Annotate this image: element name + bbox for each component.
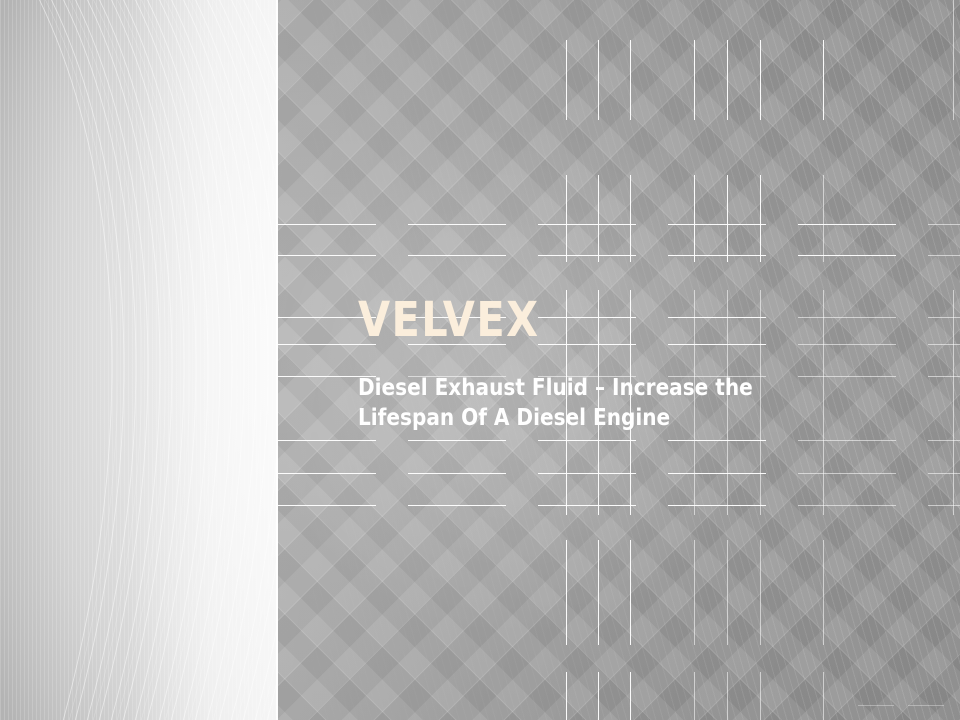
grid-vline xyxy=(694,40,695,120)
grid-hline xyxy=(408,255,506,256)
grid-vline xyxy=(694,672,695,720)
grid-hline xyxy=(278,255,376,256)
left-panel-streaks xyxy=(0,0,278,720)
grid-hline xyxy=(538,473,636,474)
grid-hline xyxy=(928,505,960,506)
grid-vline xyxy=(598,40,599,120)
grid-hline xyxy=(278,440,376,441)
grid-vline xyxy=(630,40,631,120)
grid-hline xyxy=(928,317,960,318)
grid-vline xyxy=(566,175,567,262)
grid-hline xyxy=(668,473,766,474)
grid-hline xyxy=(928,224,960,225)
grid-hline xyxy=(538,255,636,256)
grid-hline xyxy=(278,505,376,506)
grid-hline xyxy=(408,224,506,225)
grid-hline xyxy=(908,705,944,706)
page-title: VELVEX xyxy=(358,296,857,345)
title-slide: VELVEX Diesel Exhaust Fluid – Increase t… xyxy=(0,0,960,720)
grid-hline xyxy=(668,224,766,225)
grid-hline xyxy=(278,224,376,225)
grid-hline xyxy=(668,505,766,506)
grid-hline xyxy=(928,376,960,377)
left-panel-edge xyxy=(276,0,278,720)
subtitle-placeholder: Diesel Exhaust Fluid – Increase the Life… xyxy=(358,373,858,434)
grid-vline xyxy=(598,175,599,262)
grid-hline xyxy=(798,224,896,225)
grid-hline xyxy=(408,505,506,506)
grid-vline xyxy=(566,672,567,720)
grid-hline xyxy=(798,440,896,441)
grid-vline xyxy=(566,540,567,645)
grid-vline xyxy=(823,540,824,645)
grid-vline xyxy=(598,672,599,720)
title-placeholder: VELVEX xyxy=(358,296,878,345)
grid-vline xyxy=(760,540,761,645)
grid-hline xyxy=(408,440,506,441)
grid-vline xyxy=(823,175,824,262)
grid-vline xyxy=(727,672,728,720)
grid-hline xyxy=(798,473,896,474)
grid-hline xyxy=(668,440,766,441)
subtitle-line-2: Lifespan Of A Diesel Engine xyxy=(358,405,670,431)
grid-vline xyxy=(630,175,631,262)
grid-vline xyxy=(727,540,728,645)
grid-hline xyxy=(928,473,960,474)
grid-hline xyxy=(858,705,894,706)
grid-vline xyxy=(630,672,631,720)
grid-hline xyxy=(408,473,506,474)
slide-subtitle: Diesel Exhaust Fluid – Increase the Life… xyxy=(358,373,843,434)
grid-vline xyxy=(760,40,761,120)
grid-hline xyxy=(798,505,896,506)
grid-vline xyxy=(953,0,954,120)
grid-vline xyxy=(598,540,599,645)
grid-vline xyxy=(823,672,824,720)
subtitle-line-1: Diesel Exhaust Fluid – Increase the xyxy=(358,375,753,401)
grid-vline xyxy=(727,40,728,120)
grid-hline xyxy=(928,344,960,345)
grid-hline xyxy=(928,440,960,441)
grid-hline xyxy=(928,255,960,256)
grid-hline xyxy=(278,473,376,474)
grid-hline xyxy=(538,440,636,441)
grid-hline xyxy=(668,255,766,256)
grid-vline xyxy=(694,175,695,262)
grid-vline xyxy=(953,290,954,515)
grid-hline xyxy=(798,255,896,256)
grid-vline xyxy=(760,175,761,262)
grid-vline xyxy=(630,540,631,645)
grid-hline xyxy=(538,505,636,506)
grid-vline xyxy=(566,40,567,120)
grid-vline xyxy=(694,540,695,645)
grid-vline xyxy=(727,175,728,262)
grid-hline xyxy=(538,224,636,225)
background-left-panel xyxy=(0,0,278,720)
grid-vline xyxy=(823,40,824,120)
grid-vline xyxy=(760,672,761,720)
